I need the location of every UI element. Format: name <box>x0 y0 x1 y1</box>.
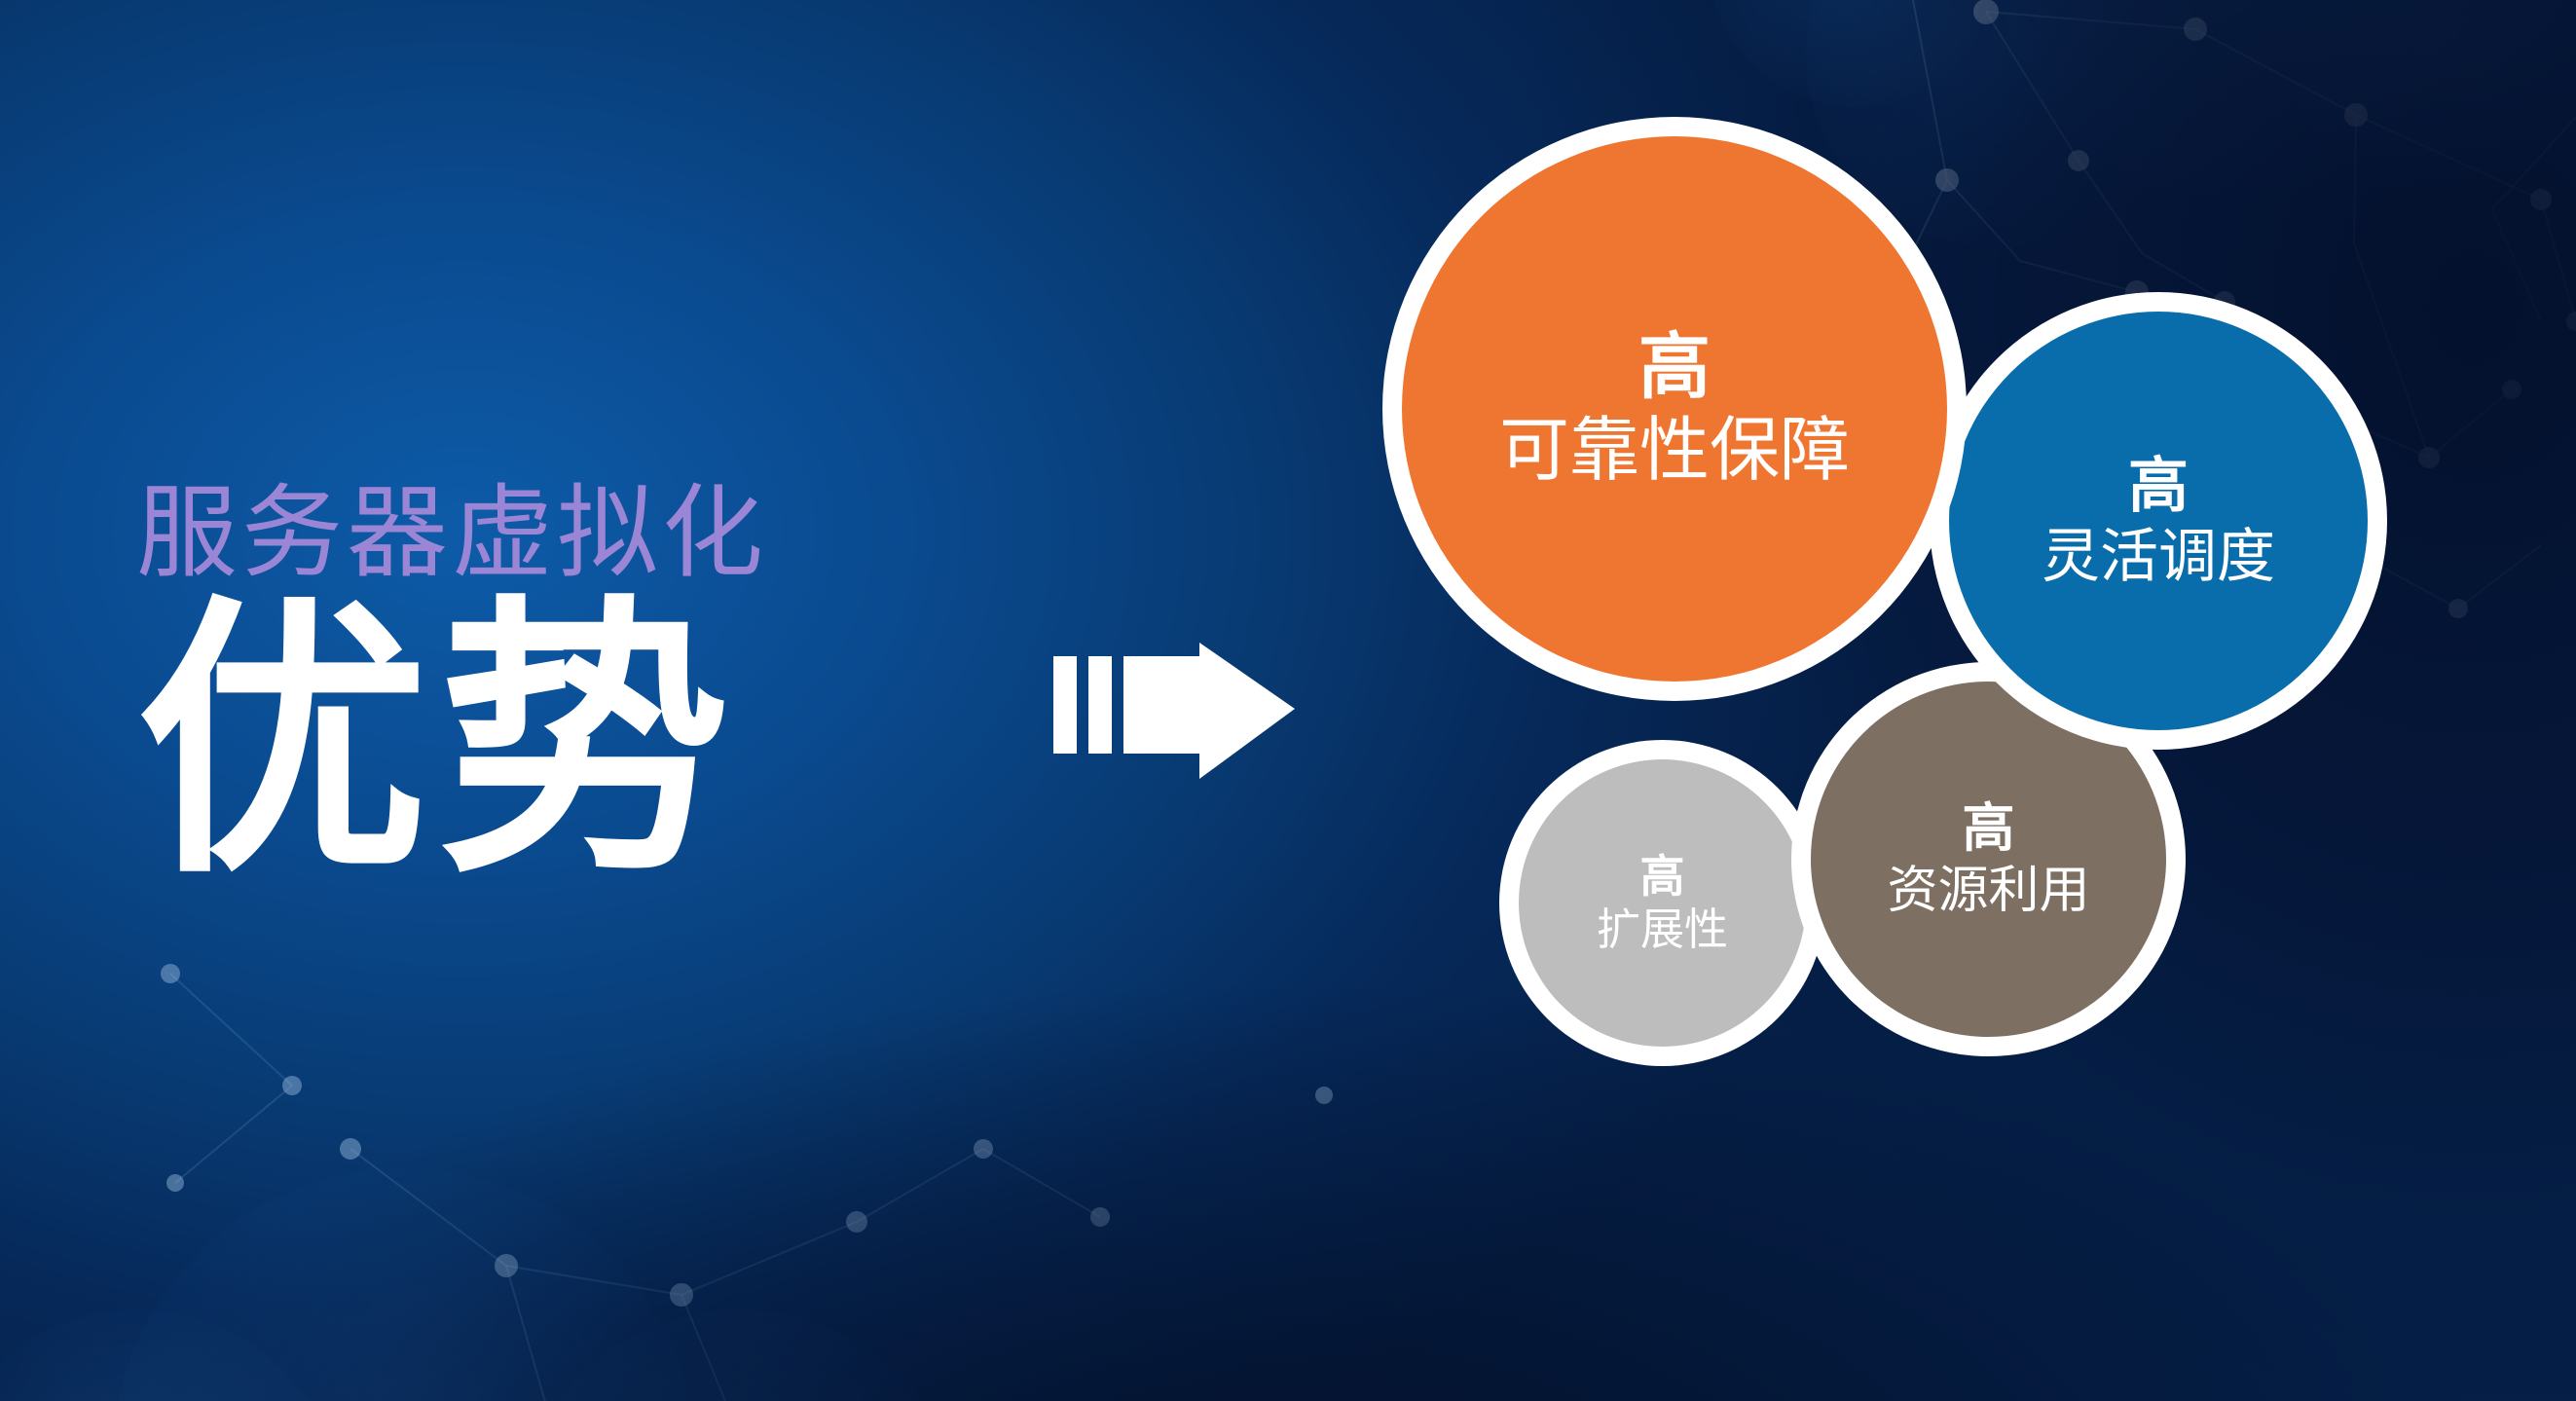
bubble-schedule-fill: 高 灵活调度 <box>1949 312 2368 730</box>
right-arrow-icon <box>1053 643 1306 789</box>
right-arrow-glyph <box>1053 643 1306 789</box>
bubble-reliability-fill: 高 可靠性保障 <box>1402 136 1947 682</box>
headline-title: 优势 <box>136 596 1032 888</box>
bubble-scalability-desc: 扩展性 <box>1597 905 1728 954</box>
bubble-schedule[interactable]: 高 灵活调度 <box>1930 292 2387 750</box>
cloud-shapes-bottom <box>0 1168 1178 1401</box>
bubble-scalability-lead: 高 <box>1640 852 1685 903</box>
network-nodes-bottom <box>161 964 1333 1307</box>
headline-subtitle: 服务器虚拟化 <box>136 477 1032 590</box>
bubble-reliability-desc: 可靠性保障 <box>1499 412 1850 491</box>
network-lines-bottom <box>170 974 1100 1401</box>
bubble-scalability[interactable]: 高 扩展性 <box>1499 740 1825 1066</box>
bubble-resource-desc: 资源利用 <box>1887 863 2089 919</box>
bubble-schedule-desc: 灵活调度 <box>2042 524 2275 589</box>
bubble-resource-lead: 高 <box>1963 799 2015 858</box>
bubble-scalability-fill: 高 扩展性 <box>1519 759 1806 1047</box>
bubble-reliability[interactable]: 高 可靠性保障 <box>1382 117 1967 701</box>
benefit-bubble-cluster: 高 可靠性保障 高 灵活调度 高 资源利用 高 扩展性 <box>1382 107 2473 1090</box>
slide-canvas: 服务器虚拟化 优势 高 可靠性保障 高 灵活调度 高 资源利用 <box>0 0 2576 1401</box>
headline-block: 服务器虚拟化 优势 <box>136 477 1032 888</box>
bubble-schedule-lead: 高 <box>2128 453 2189 520</box>
bubble-reliability-lead: 高 <box>1638 327 1711 408</box>
